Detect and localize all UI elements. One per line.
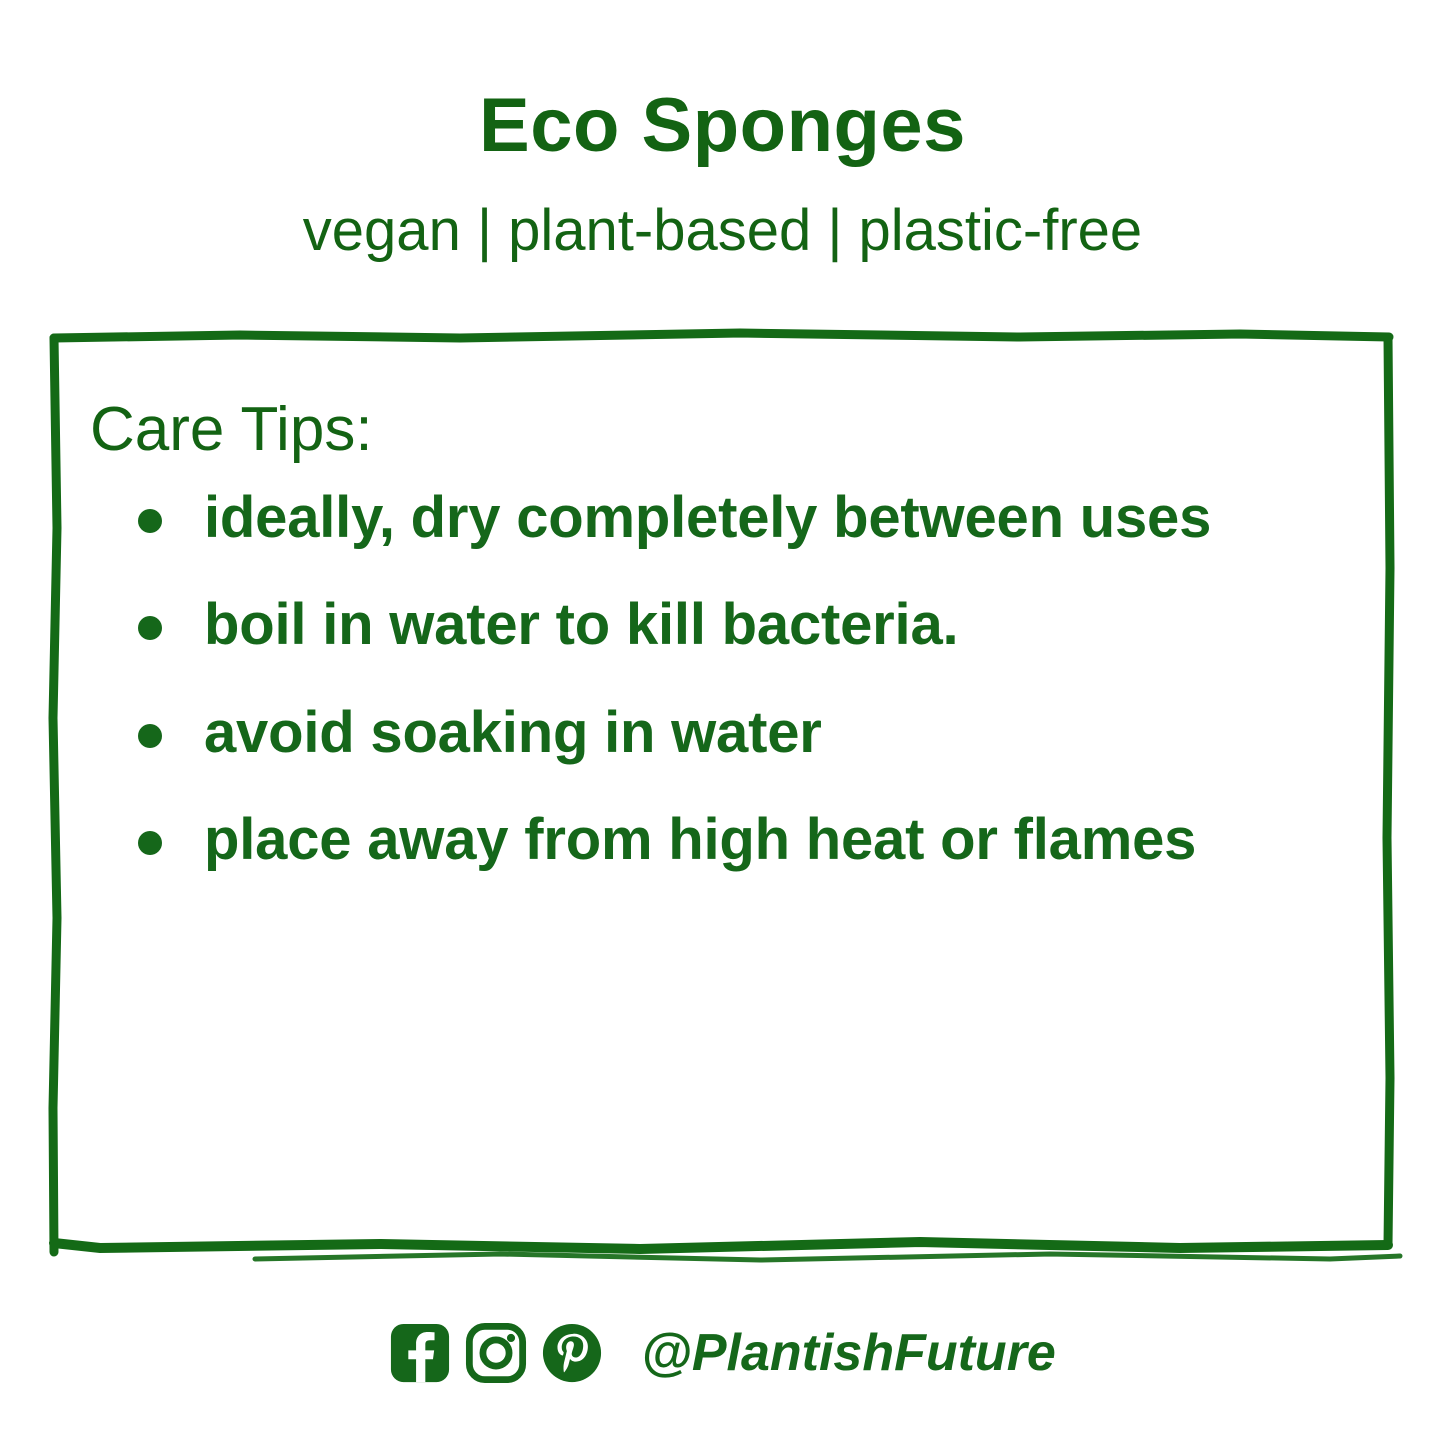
bullet-icon — [138, 616, 162, 640]
header: Eco Sponges vegan | plant-based | plasti… — [0, 0, 1445, 260]
care-tips-list: ideally, dry completely between uses boi… — [90, 487, 1348, 871]
bullet-icon — [138, 509, 162, 533]
care-tips-card: Care Tips: ideally, dry completely betwe… — [55, 337, 1388, 1245]
list-item: ideally, dry completely between uses — [90, 487, 1348, 548]
instagram-icon[interactable] — [465, 1322, 527, 1384]
tip-text: boil in water to kill bacteria. — [204, 594, 958, 655]
tip-text: ideally, dry completely between uses — [204, 487, 1211, 548]
social-handle[interactable]: @PlantishFuture — [641, 1327, 1056, 1379]
list-item: avoid soaking in water — [90, 702, 1348, 763]
tip-text: place away from high heat or flames — [204, 809, 1196, 870]
pinterest-icon[interactable] — [541, 1322, 603, 1384]
page-subtitle: vegan | plant-based | plastic-free — [0, 164, 1445, 260]
list-item: boil in water to kill bacteria. — [90, 594, 1348, 655]
tip-text: avoid soaking in water — [204, 702, 822, 763]
social-icon-group — [389, 1322, 603, 1384]
social-footer: @PlantishFuture — [0, 1322, 1445, 1384]
page-title: Eco Sponges — [0, 0, 1445, 164]
bullet-icon — [138, 831, 162, 855]
facebook-icon[interactable] — [389, 1322, 451, 1384]
care-tips-heading: Care Tips: — [90, 399, 1348, 461]
bullet-icon — [138, 724, 162, 748]
list-item: place away from high heat or flames — [90, 809, 1348, 870]
